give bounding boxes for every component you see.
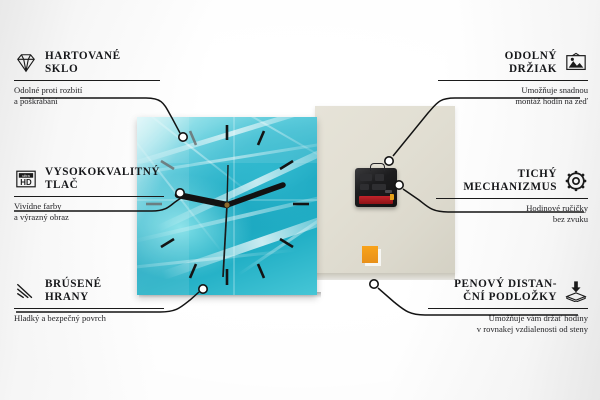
- feature-durable-holder: ODOLNÝ DRŽIAK Umožňuje snadnou montáž ho…: [438, 50, 588, 106]
- ultra-hd-icon: ultra HD: [14, 168, 38, 190]
- feature-title: TICHÝ MECHANIZMUS: [463, 168, 557, 194]
- feature-desc: Hladký a bezpečný povrch: [14, 313, 164, 324]
- feature-title: BRÚSENÉ HRANY: [45, 278, 102, 304]
- feature-desc: Odolné proti rozbití a poškrábání: [14, 85, 160, 106]
- divider: [14, 196, 164, 197]
- connector-node: [199, 285, 207, 293]
- feature-silent-mechanism: TICHÝ MECHANIZMUS Hodinové ručičky bez z…: [436, 168, 588, 224]
- feature-title: PENOVÝ DISTAN- ČNÍ PODLOŽKY: [454, 278, 557, 304]
- divider: [14, 308, 164, 309]
- divider: [428, 308, 588, 309]
- foam-pad-icon: [564, 280, 588, 302]
- feature-title: HARTOVANÉ SKLO: [45, 50, 121, 76]
- feature-hd-print: ultra HD VYSOKOKVALITNÝ TLAČ Vivídne far…: [14, 166, 164, 222]
- connector-node: [385, 157, 393, 165]
- feature-foam-spacers: PENOVÝ DISTAN- ČNÍ PODLOŽKY Umožňuje vám…: [428, 278, 588, 334]
- svg-text:HD: HD: [20, 178, 32, 187]
- connector-node: [370, 280, 378, 288]
- connector-node: [395, 181, 403, 189]
- feature-tempered-glass: HARTOVANÉ SKLO Odolné proti rozbití a po…: [14, 50, 160, 106]
- feature-desc: Vivídne farby a výrazný obraz: [14, 201, 164, 222]
- infographic-canvas: HARTOVANÉ SKLO Odolné proti rozbití a po…: [0, 0, 600, 400]
- feature-desc: Umožňuje snadnou montáž hodin na zeď: [438, 85, 588, 106]
- feature-desc: Umožňuje vám držať hodiny v rovnakej vzd…: [428, 313, 588, 334]
- divider: [438, 80, 588, 81]
- divider: [436, 198, 588, 199]
- gear-icon: [564, 170, 588, 192]
- connector-node: [176, 189, 184, 197]
- feature-title: VYSOKOKVALITNÝ TLAČ: [45, 166, 160, 192]
- divider: [14, 80, 160, 81]
- connector-node: [179, 133, 187, 141]
- diamond-icon: [14, 52, 38, 74]
- ground-edges-icon: [14, 280, 38, 302]
- feature-title: ODOLNÝ DRŽIAK: [505, 50, 557, 76]
- feature-ground-edges: BRÚSENÉ HRANY Hladký a bezpečný povrch: [14, 278, 164, 324]
- wall-hanger-icon: [564, 52, 588, 74]
- feature-desc: Hodinové ručičky bez zvuku: [436, 203, 588, 224]
